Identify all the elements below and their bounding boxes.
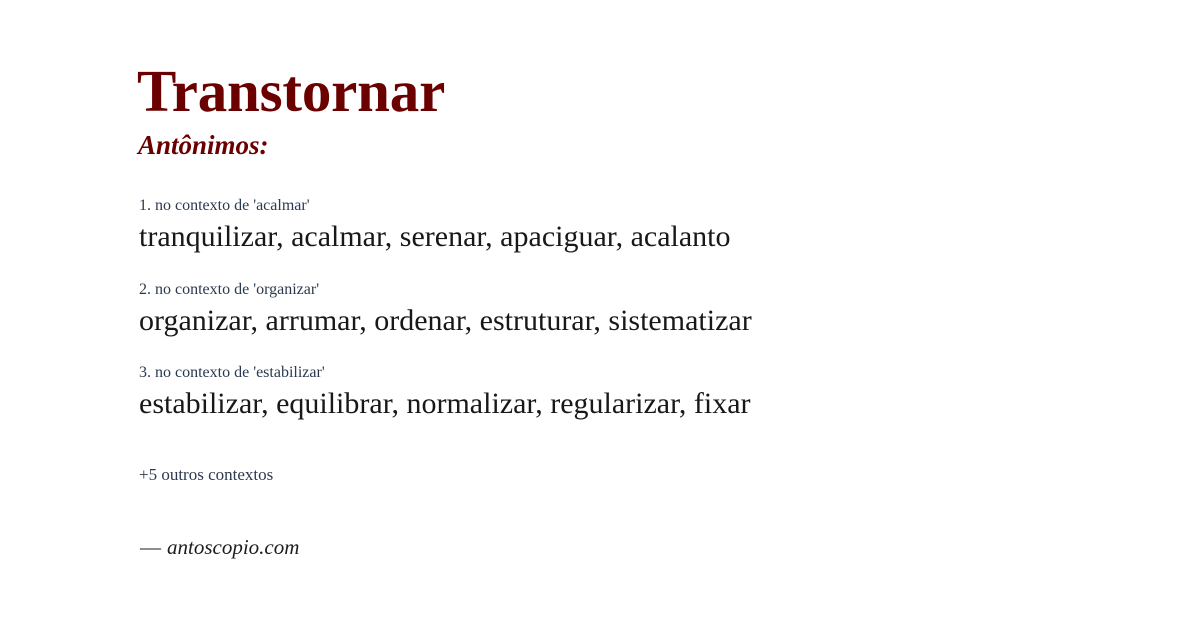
sense-context-label: 1. no contexto de 'acalmar': [139, 196, 1139, 216]
sense-antonym-words: organizar, arrumar, ordenar, estruturar,…: [139, 303, 1139, 340]
sense-context-label: 2. no contexto de 'organizar': [139, 280, 1139, 300]
sense-item: 1. no contexto de 'acalmar' tranquilizar…: [139, 196, 1139, 256]
em-dash-icon: —: [140, 535, 161, 559]
sense-item: 2. no contexto de 'organizar' organizar,…: [139, 280, 1139, 340]
more-contexts-note: +5 outros contextos: [139, 465, 273, 485]
sense-context-label: 3. no contexto de 'estabilizar': [139, 363, 1139, 383]
source-domain: antoscopio.com: [167, 535, 299, 559]
source-attribution: —antoscopio.com: [140, 535, 299, 560]
section-heading-antonyms: Antônimos:: [138, 132, 269, 159]
sense-list: 1. no contexto de 'acalmar' tranquilizar…: [139, 196, 1139, 423]
sense-antonym-words: estabilizar, equilibrar, normalizar, reg…: [139, 386, 1139, 423]
sense-antonym-words: tranquilizar, acalmar, serenar, apacigua…: [139, 219, 1139, 256]
sense-item: 3. no contexto de 'estabilizar' estabili…: [139, 363, 1139, 423]
page-title: Transtornar: [137, 62, 445, 121]
antonyms-card: Transtornar Antônimos: 1. no contexto de…: [0, 0, 1200, 628]
